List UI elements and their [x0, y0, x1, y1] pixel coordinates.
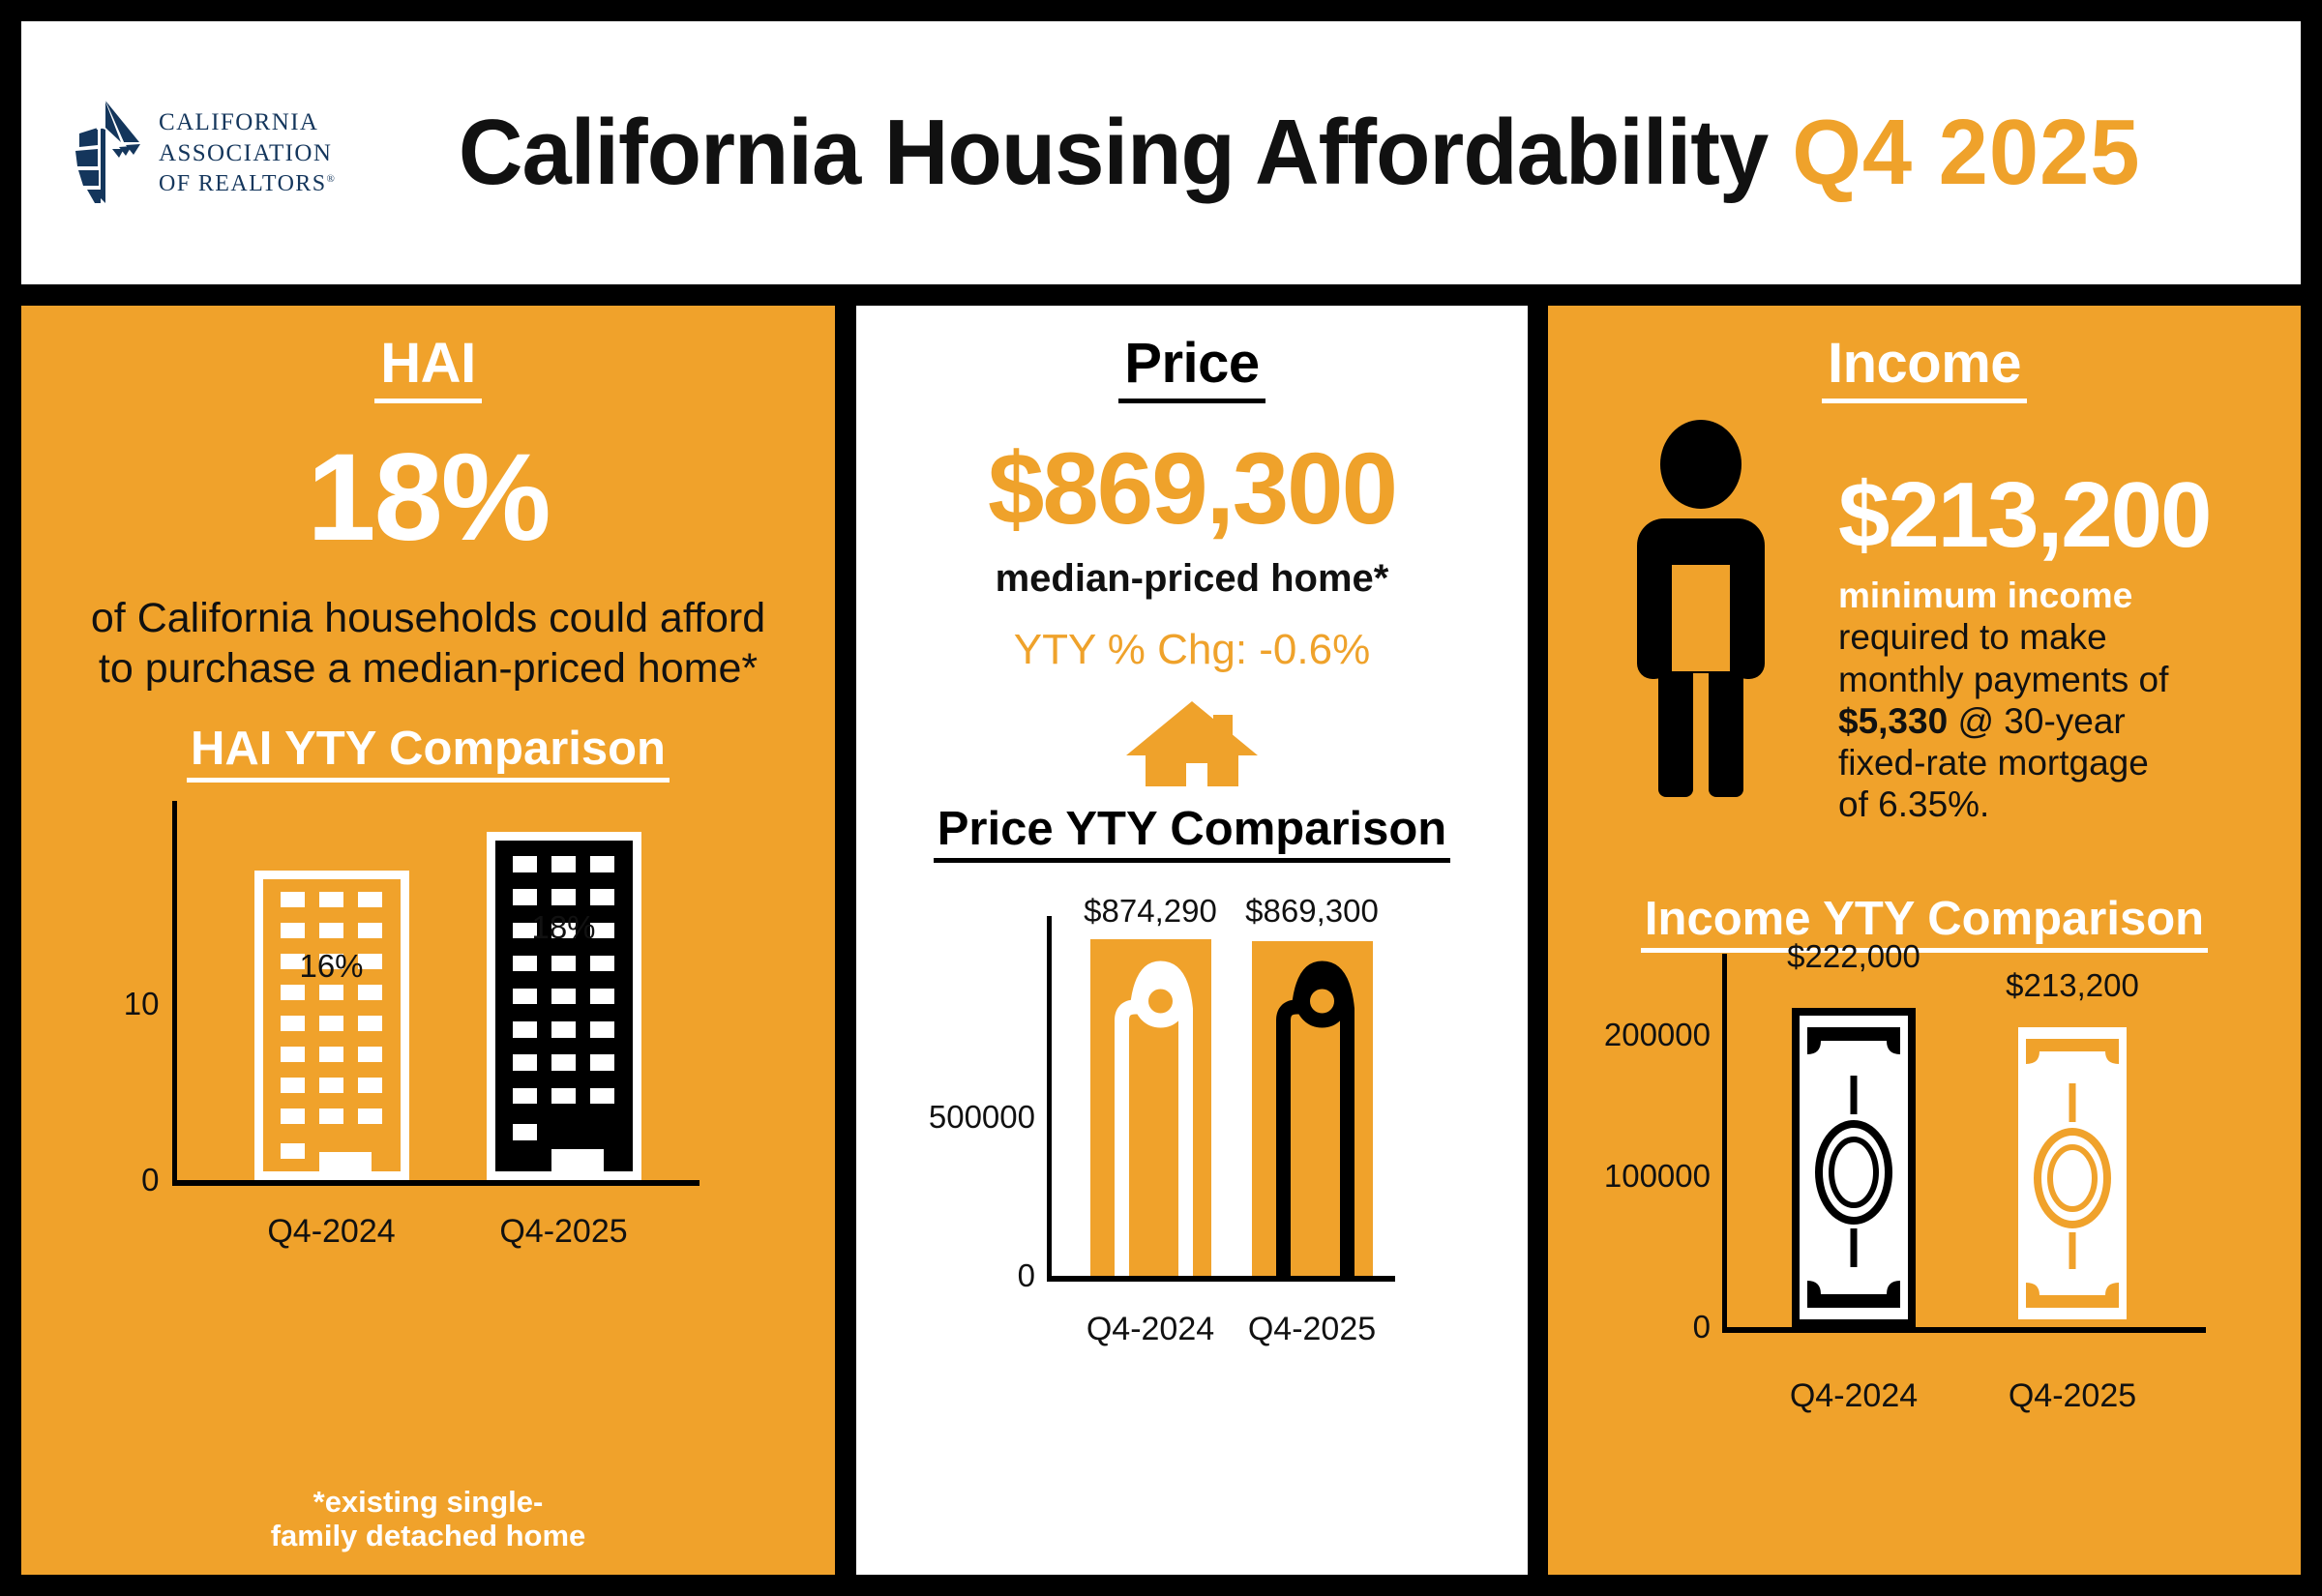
panel-hai: HAI 18% of California households could a… — [21, 306, 835, 1575]
income-cat-2025: Q4-2025 — [2009, 1377, 2136, 1415]
income-ytick-200000: 200000 — [1604, 1017, 1711, 1053]
income-desc-line-4: @ 30-year — [1948, 701, 2126, 741]
income-desc-line-6: of 6.35%. — [1838, 784, 1989, 824]
income-desc-line-2: required to make — [1838, 617, 2107, 657]
income-chart-title: Income YTY Comparison — [1548, 892, 2301, 946]
hai-footnote-line-2: family detached home — [21, 1519, 835, 1553]
income-bar-q4-2024 — [1792, 1008, 1916, 1327]
hai-chart-title: HAI YTY Comparison — [21, 722, 835, 776]
price-heading: Price — [856, 331, 1528, 396]
income-desc-lead: minimum income — [1838, 576, 2132, 615]
hai-bar-q4-2025 — [487, 832, 641, 1180]
hai-value: 18% — [21, 436, 835, 560]
income-bar-q4-2025 — [2010, 1020, 2134, 1327]
logo-diamond-icon — [66, 99, 145, 207]
price-bar-q4-2024 — [1090, 939, 1211, 1276]
logo-line-1: CALIFORNIA — [159, 107, 336, 138]
income-ytick-100000: 100000 — [1604, 1158, 1711, 1195]
infographic-page: CALIFORNIA ASSOCIATION OF REALTORS® Cali… — [0, 0, 2322, 1596]
hai-bar-2025-body — [487, 832, 641, 1180]
income-description: minimum income required to make monthly … — [1838, 575, 2254, 826]
income-y-axis — [1722, 954, 1727, 1333]
page-title-quarter: Q4 2025 — [1792, 100, 2140, 206]
price-value: $869,300 — [856, 438, 1528, 540]
price-ytd-change: YTY % Chg: -0.6% — [856, 626, 1528, 674]
price-cat-2024: Q4-2024 — [1087, 1311, 1214, 1348]
hai-footnote-line-1: *existing single- — [21, 1485, 835, 1520]
income-desc-line-5: fixed-rate mortgage — [1838, 743, 2149, 783]
hai-cat-2025: Q4-2025 — [499, 1213, 627, 1251]
house-icon — [1124, 699, 1260, 788]
panel-income: Income $213,200 minimum income required … — [1548, 306, 2301, 1575]
income-ytick-0: 0 — [1693, 1309, 1711, 1345]
panels-container: HAI 18% of California households could a… — [21, 306, 2301, 1575]
hai-ytick-0: 0 — [141, 1162, 159, 1198]
price-x-axis — [1047, 1276, 1395, 1282]
hai-label-2024: 16% — [299, 948, 363, 985]
banknote-icon-2025 — [2010, 1020, 2134, 1327]
header-bar: CALIFORNIA ASSOCIATION OF REALTORS® Cali… — [21, 21, 2301, 284]
hai-heading-text: HAI — [374, 332, 481, 403]
income-cat-2024: Q4-2024 — [1790, 1377, 1918, 1415]
hai-label-2025: 18% — [531, 909, 595, 946]
price-tag-icon-2025 — [1262, 941, 1363, 1276]
income-desc-payment: $5,330 — [1838, 701, 1948, 741]
hai-heading: HAI — [21, 331, 835, 396]
hai-blurb: of California households could afford to… — [21, 593, 835, 695]
car-logo-icon — [66, 99, 145, 207]
price-ytick-0: 0 — [1018, 1257, 1035, 1294]
income-x-axis — [1722, 1327, 2206, 1333]
price-subtitle: median-priced home* — [856, 557, 1528, 601]
page-title: California Housing Affordability Q4 2025 — [375, 100, 2262, 206]
hai-ytick-10: 10 — [124, 986, 160, 1022]
income-desc-line-3: monthly payments of — [1838, 660, 2168, 699]
price-cat-2025: Q4-2025 — [1248, 1311, 1376, 1348]
person-icon — [1623, 420, 1778, 807]
income-summary: $213,200 minimum income required to make… — [1548, 451, 2301, 867]
income-value: $213,200 — [1838, 462, 2210, 569]
page-title-main: California Housing Affordability — [459, 100, 1768, 206]
income-heading-text: Income — [1822, 332, 2027, 403]
panel-price: Price $869,300 median-priced home* YTY %… — [856, 306, 1528, 1575]
income-label-2024: $222,000 — [1787, 938, 1920, 975]
price-y-axis — [1047, 916, 1052, 1276]
hai-cat-2024: Q4-2024 — [267, 1213, 395, 1251]
chart-income-yty: 0 100000 200000 $222,000 Q4 — [1548, 942, 2301, 1368]
car-logo-text: CALIFORNIA ASSOCIATION OF REALTORS® — [159, 107, 336, 199]
hai-bar-q4-2024 — [254, 871, 409, 1180]
banknote-icon-2024 — [1792, 1008, 1916, 1327]
logo-line-3: OF REALTORS® — [159, 169, 336, 199]
price-label-2024: $874,290 — [1084, 893, 1217, 930]
chart-price-yty: 0 500000 $874,290 Q4-2024 — [873, 906, 1511, 1303]
car-logo: CALIFORNIA ASSOCIATION OF REALTORS® — [66, 99, 336, 207]
hai-x-axis — [172, 1180, 700, 1186]
income-heading: Income — [1548, 331, 2301, 396]
price-label-2025: $869,300 — [1245, 893, 1379, 930]
price-bar-q4-2025 — [1252, 941, 1373, 1276]
income-label-2025: $213,200 — [2006, 967, 2139, 1004]
logo-line-2: ASSOCIATION — [159, 138, 336, 169]
chart-hai-yty: 0 10 — [51, 789, 806, 1205]
price-chart-title: Price YTY Comparison — [856, 802, 1528, 856]
price-ytick-500000: 500000 — [929, 1099, 1035, 1136]
hai-footnote: *existing single- family detached home — [21, 1485, 835, 1553]
hai-y-axis — [172, 801, 177, 1186]
price-heading-text: Price — [1118, 332, 1265, 403]
price-tag-icon-2024 — [1100, 939, 1202, 1276]
